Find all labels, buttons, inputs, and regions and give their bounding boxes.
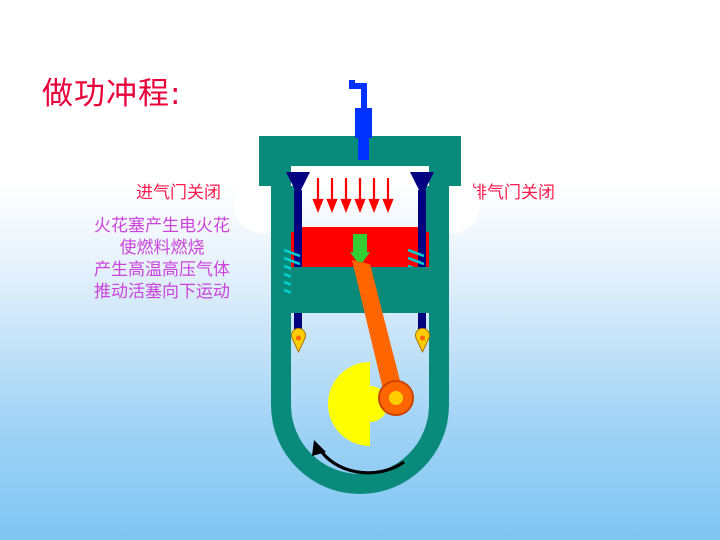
cylinder-head-left-lip	[259, 136, 279, 186]
spark-plug-body	[355, 108, 372, 138]
gas-pressure-arrows	[314, 178, 392, 210]
slide-canvas: 做功冲程: 进气门关闭 排气门关闭 火花塞产生电火花 使燃料燃烧 产生高温高压气…	[0, 0, 720, 540]
spark-plug-wire	[352, 80, 364, 110]
valve-tappet-right	[416, 328, 430, 352]
crank-pin-center	[389, 391, 403, 405]
spark-plug-electrode	[358, 138, 369, 160]
valve-tappet-left	[292, 328, 306, 352]
cylinder-head-right-lip	[441, 136, 461, 186]
engine-diagram	[0, 0, 720, 540]
